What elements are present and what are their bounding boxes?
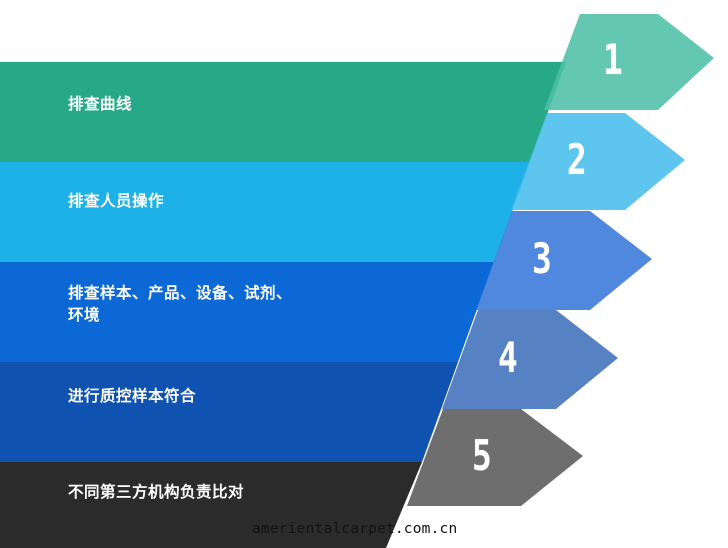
arrow-shape-5 bbox=[407, 409, 583, 506]
arrow-shape-2 bbox=[511, 113, 685, 210]
arrow-shape-1 bbox=[544, 14, 714, 110]
arrow-layer bbox=[0, 0, 728, 548]
arrow-shape-4 bbox=[442, 310, 618, 409]
arrow-shape-3 bbox=[476, 211, 652, 310]
infographic-canvas: 排查曲线 排查人员操作 排查样本、产品、设备、试剂、 环境 进行质控样本符合 不… bbox=[0, 0, 728, 548]
